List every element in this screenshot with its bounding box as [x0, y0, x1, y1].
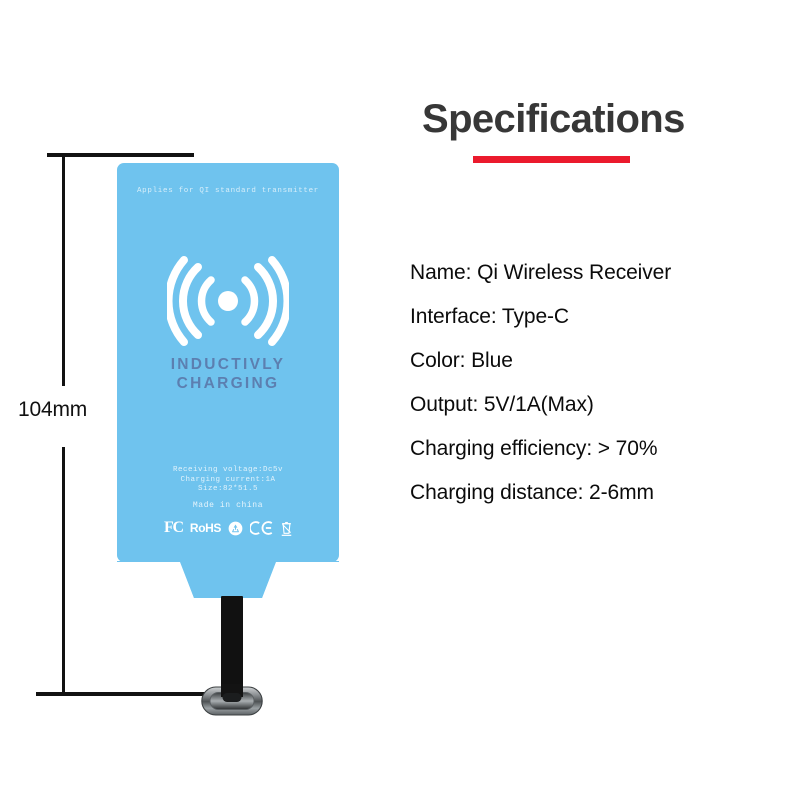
dimension-line-upper	[62, 157, 65, 386]
usb-type-c-plug	[201, 684, 263, 718]
weee-crossed-bin-icon	[281, 521, 292, 536]
spec-item-output: Output: 5V/1A(Max)	[410, 383, 800, 427]
card-fineprint: Receiving voltage:Dc5v Charging current:…	[117, 466, 339, 495]
fcc-icon: FC	[164, 520, 183, 536]
brand-text: INDUCTIVLY CHARGING	[117, 355, 339, 393]
specifications-title: Specifications	[422, 97, 685, 142]
brand-line-2: CHARGING	[117, 374, 339, 393]
dimension-label: 104mm	[18, 398, 87, 422]
fineprint-voltage: Receiving voltage:Dc5v	[117, 466, 339, 476]
spec-item-charging-distance: Charging distance: 2-6mm	[410, 471, 800, 515]
dimension-tick-top	[47, 153, 194, 157]
spec-item-interface: Interface: Type-C	[410, 295, 800, 339]
product-image-panel: 104mm Applies for QI standard transmitte…	[0, 0, 400, 800]
spec-item-color: Color: Blue	[410, 339, 800, 383]
made-in-text: Made in china	[117, 501, 339, 510]
ribbon-cable	[221, 596, 243, 694]
rohs-icon: RoHS	[190, 522, 221, 534]
spec-item-name: Name: Qi Wireless Receiver	[410, 251, 800, 295]
ce-icon	[250, 521, 274, 535]
fineprint-current: Charging current:1A	[117, 476, 339, 486]
title-underline-accent	[473, 156, 630, 163]
spec-item-charging-efficiency: Charging efficiency: > 70%	[410, 427, 800, 471]
fineprint-size: Size:82*51.5	[117, 485, 339, 495]
specifications-panel: Specifications Name: Qi Wireless Receive…	[400, 0, 800, 800]
card-top-text: Applies for QI standard transmitter	[117, 187, 339, 195]
certification-marks-row: FC RoHS	[117, 520, 339, 536]
wireless-waves-icon	[167, 253, 289, 349]
brand-line-1: INDUCTIVLY	[117, 355, 339, 374]
wireless-receiver-card: Applies for QI standard transmitter INDU…	[117, 163, 339, 562]
dimension-line-lower	[62, 447, 65, 694]
product-spec-infographic: 104mm Applies for QI standard transmitte…	[0, 0, 800, 800]
specifications-list: Name: Qi Wireless Receiver Interface: Ty…	[410, 251, 800, 515]
recycle-icon	[228, 521, 243, 536]
card-bottom-tab	[117, 561, 339, 599]
